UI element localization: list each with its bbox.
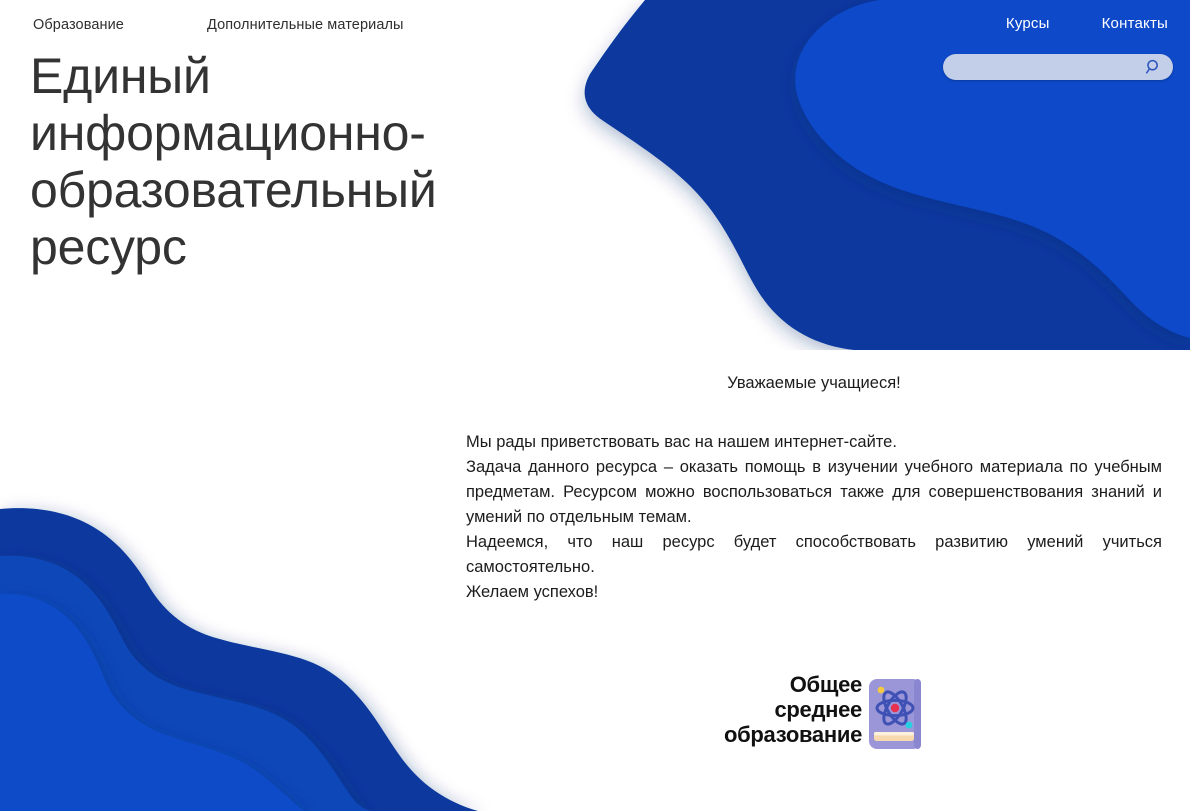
welcome-body: Мы рады приветствовать вас на нашем инте… xyxy=(466,430,1162,605)
nav-right-group: Курсы Контакты xyxy=(1006,15,1168,32)
nav-link-education[interactable]: Образование xyxy=(33,17,124,33)
search-icon[interactable] xyxy=(1145,58,1163,76)
search-box[interactable] xyxy=(943,54,1173,80)
welcome-paragraph-4: Желаем успехов! xyxy=(466,580,1162,605)
welcome-paragraph-1: Мы рады приветствовать вас на нашем инте… xyxy=(466,430,1162,455)
nav-link-additional-materials[interactable]: Дополнительные материалы xyxy=(207,17,404,33)
wave-bottom-dark xyxy=(0,508,478,811)
wave-bottom-bright xyxy=(0,594,304,811)
welcome-paragraph-2: Задача данного ресурса – оказать помощь … xyxy=(466,455,1162,530)
logo-text-line-2: среднее xyxy=(724,697,862,722)
search-input[interactable] xyxy=(943,54,1139,80)
welcome-paragraph-3: Надеемся, что наш ресурс будет способств… xyxy=(466,530,1162,580)
nav-link-contacts[interactable]: Контакты xyxy=(1102,15,1168,32)
search-container xyxy=(943,54,1173,80)
logo[interactable]: Общее среднее образование xyxy=(660,672,922,750)
nav-left-group: Образование Дополнительные материалы xyxy=(33,17,404,33)
logo-text-line-1: Общее xyxy=(724,672,862,697)
book-atom-icon xyxy=(868,678,922,750)
logo-text: Общее среднее образование xyxy=(724,672,862,750)
wave-bottom-mid xyxy=(0,556,372,811)
nav-link-courses[interactable]: Курсы xyxy=(1006,15,1050,32)
logo-text-line-3: образование xyxy=(724,722,862,747)
greeting-text: Уважаемые учащиеся! xyxy=(466,370,1162,396)
page-root: Образование Дополнительные материалы Кур… xyxy=(0,0,1190,811)
main-content: Уважаемые учащиеся! Мы рады приветствова… xyxy=(466,370,1162,605)
